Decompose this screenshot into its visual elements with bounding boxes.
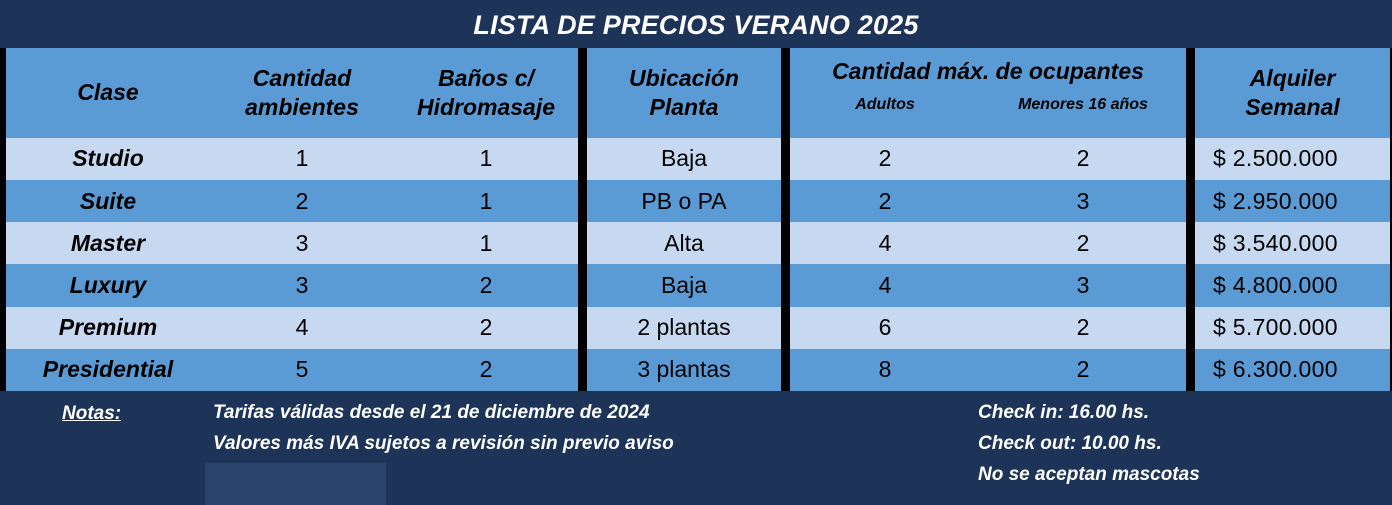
body-group3: 222342436282: [790, 138, 1186, 391]
cell-adultos: 2: [790, 138, 980, 180]
footer-notes: Notas: Tarifas válidas desde el 21 de di…: [0, 395, 1392, 505]
cell-alquiler: $ 2.500.000: [1195, 138, 1390, 180]
column-group-ocupantes: Cantidad máx. de ocupantes Adultos Menor…: [790, 48, 1186, 391]
notes-label: Notas:: [62, 403, 121, 425]
cell-menores: 3: [980, 264, 1186, 306]
cell-cantidad-ambientes: 3: [210, 264, 394, 306]
header-row-group3: Cantidad máx. de ocupantes Adultos Menor…: [790, 48, 1186, 138]
note-line: Tarifas válidas desde el 21 de diciembre…: [213, 402, 674, 424]
cell-banos: 2: [394, 349, 578, 391]
body-group1: Studio11Suite21Master31Luxury32Premium42…: [6, 138, 578, 391]
cell-alquiler: $ 3.540.000: [1195, 222, 1390, 264]
header-ocupantes-menores: Menores 16 años: [980, 94, 1186, 138]
notes-list: Tarifas válidas desde el 21 de diciembre…: [213, 402, 674, 455]
header-row-group4: Alquiler Semanal: [1195, 48, 1390, 138]
checkin-checkout-list: Check in: 16.00 hs.Check out: 10.00 hs.N…: [978, 402, 1200, 486]
cell-banos: 1: [394, 222, 578, 264]
header-ocupantes-subrow: Adultos Menores 16 años: [790, 94, 1186, 138]
cell-adultos: 2: [790, 180, 980, 222]
footer-highlight-patch: [205, 463, 386, 505]
cell-adultos: 6: [790, 307, 980, 349]
table-row: 82: [790, 349, 1186, 391]
table-row: Studio11: [6, 138, 578, 180]
cell-menores: 3: [980, 180, 1186, 222]
cell-clase: Presidential: [6, 349, 210, 391]
header-banos-line1: Baños c/: [438, 64, 534, 93]
cell-banos: 2: [394, 264, 578, 306]
header-row-group1: Clase Cantidad ambientes Baños c/ Hidrom…: [6, 48, 578, 138]
cell-ubicacion: Alta: [587, 222, 781, 264]
check-line: No se aceptan mascotas: [978, 464, 1200, 486]
cell-menores: 2: [980, 349, 1186, 391]
cell-ubicacion: Baja: [587, 138, 781, 180]
table-row: $ 4.800.000: [1195, 264, 1390, 306]
header-alquiler-line2: Semanal: [1245, 93, 1340, 122]
table-row: Suite21: [6, 180, 578, 222]
cell-menores: 2: [980, 307, 1186, 349]
table-row: 22: [790, 138, 1186, 180]
cell-ubicacion: 3 plantas: [587, 349, 781, 391]
table-row: 23: [790, 180, 1186, 222]
body-group2: BajaPB o PAAltaBaja2 plantas3 plantas: [587, 138, 781, 391]
price-list-sheet: LISTA DE PRECIOS VERANO 2025 Clase Canti…: [0, 0, 1392, 505]
header-row-group2: Ubicación Planta: [587, 48, 781, 138]
table-row: 43: [790, 264, 1186, 306]
table-row: Premium42: [6, 307, 578, 349]
header-cantidad-ambientes: Cantidad ambientes: [210, 48, 394, 138]
title-bar: LISTA DE PRECIOS VERANO 2025: [0, 4, 1392, 46]
header-alquiler-line1: Alquiler: [1250, 64, 1336, 93]
table-row: 3 plantas: [587, 349, 781, 391]
header-ocupantes-adultos: Adultos: [790, 94, 980, 138]
header-ambientes-line1: Cantidad: [253, 64, 351, 93]
cell-ubicacion: Baja: [587, 264, 781, 306]
header-clase-line1: Clase: [77, 78, 138, 107]
table-row: $ 5.700.000: [1195, 307, 1390, 349]
cell-clase: Studio: [6, 138, 210, 180]
cell-ubicacion: PB o PA: [587, 180, 781, 222]
cell-banos: 2: [394, 307, 578, 349]
table-row: 42: [790, 222, 1186, 264]
table-row: 62: [790, 307, 1186, 349]
cell-cantidad-ambientes: 2: [210, 180, 394, 222]
header-banos-hidromasaje: Baños c/ Hidromasaje: [394, 48, 578, 138]
column-group-room-specs: Clase Cantidad ambientes Baños c/ Hidrom…: [6, 48, 578, 391]
note-line: Valores más IVA sujetos a revisión sin p…: [213, 433, 674, 455]
cell-adultos: 8: [790, 349, 980, 391]
cell-menores: 2: [980, 222, 1186, 264]
cell-alquiler: $ 2.950.000: [1195, 180, 1390, 222]
column-group-ubicacion: Ubicación Planta BajaPB o PAAltaBaja2 pl…: [587, 48, 781, 391]
cell-clase: Master: [6, 222, 210, 264]
cell-banos: 1: [394, 180, 578, 222]
price-table: Clase Cantidad ambientes Baños c/ Hidrom…: [0, 48, 1392, 391]
cell-adultos: 4: [790, 264, 980, 306]
cell-clase: Suite: [6, 180, 210, 222]
cell-menores: 2: [980, 138, 1186, 180]
body-group4: $ 2.500.000$ 2.950.000$ 3.540.000$ 4.800…: [1195, 138, 1390, 391]
header-clase: Clase: [6, 48, 210, 138]
cell-cantidad-ambientes: 4: [210, 307, 394, 349]
table-row: Luxury32: [6, 264, 578, 306]
table-row: $ 3.540.000: [1195, 222, 1390, 264]
header-ocupantes-title: Cantidad máx. de ocupantes: [790, 48, 1186, 94]
table-row: Presidential52: [6, 349, 578, 391]
cell-clase: Premium: [6, 307, 210, 349]
header-ubicacion-line2: Planta: [649, 93, 718, 122]
cell-alquiler: $ 5.700.000: [1195, 307, 1390, 349]
header-ubicacion-line1: Ubicación: [629, 64, 739, 93]
header-banos-line2: Hidromasaje: [417, 93, 555, 122]
table-row: Baja: [587, 138, 781, 180]
table-row: 2 plantas: [587, 307, 781, 349]
header-ubicacion-planta: Ubicación Planta: [587, 48, 781, 138]
check-line: Check out: 10.00 hs.: [978, 433, 1200, 455]
column-group-alquiler: Alquiler Semanal $ 2.500.000$ 2.950.000$…: [1195, 48, 1390, 391]
check-line: Check in: 16.00 hs.: [978, 402, 1200, 424]
header-alquiler-semanal: Alquiler Semanal: [1195, 48, 1390, 138]
cell-cantidad-ambientes: 1: [210, 138, 394, 180]
cell-cantidad-ambientes: 3: [210, 222, 394, 264]
table-row: $ 6.300.000: [1195, 349, 1390, 391]
table-row: $ 2.950.000: [1195, 180, 1390, 222]
table-row: $ 2.500.000: [1195, 138, 1390, 180]
cell-adultos: 4: [790, 222, 980, 264]
cell-ubicacion: 2 plantas: [587, 307, 781, 349]
page-title: LISTA DE PRECIOS VERANO 2025: [473, 10, 918, 41]
cell-cantidad-ambientes: 5: [210, 349, 394, 391]
table-row: PB o PA: [587, 180, 781, 222]
header-ambientes-line2: ambientes: [245, 93, 359, 122]
cell-banos: 1: [394, 138, 578, 180]
cell-alquiler: $ 6.300.000: [1195, 349, 1390, 391]
cell-alquiler: $ 4.800.000: [1195, 264, 1390, 306]
table-row: Alta: [587, 222, 781, 264]
table-row: Master31: [6, 222, 578, 264]
cell-clase: Luxury: [6, 264, 210, 306]
table-row: Baja: [587, 264, 781, 306]
